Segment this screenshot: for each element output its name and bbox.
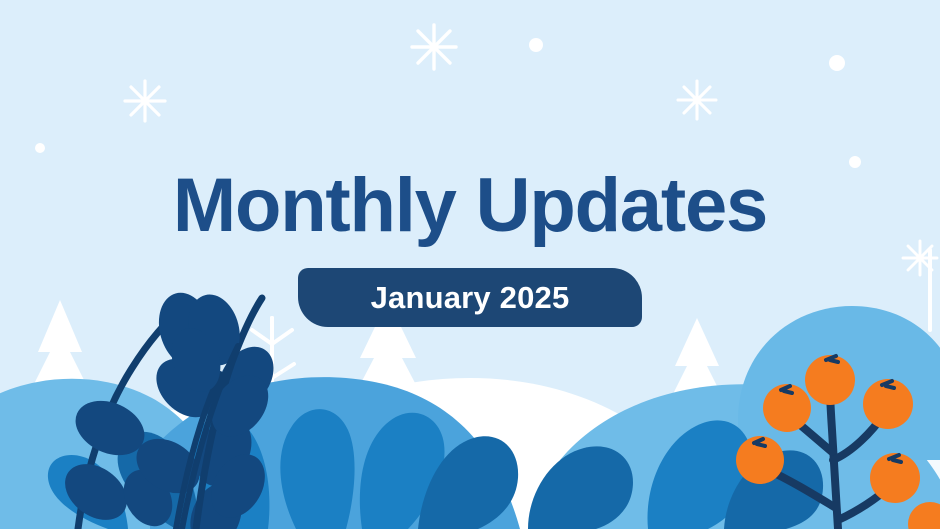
snow-dot-top-center — [529, 38, 543, 52]
berry-lower-left — [736, 436, 784, 484]
berry-upper-left — [763, 384, 811, 432]
presentation-slide: Monthly Updates January 2025 — [0, 0, 940, 529]
berry-right — [863, 379, 913, 429]
snowflake-top-right — [678, 81, 716, 119]
subtitle-label: January 2025 — [371, 282, 570, 313]
berry-upper-center — [805, 355, 855, 405]
berry-lower-right — [870, 453, 920, 503]
snow-dot-top-right — [829, 55, 845, 71]
snowflake-top-left — [125, 81, 165, 121]
winter-illustration-artwork — [0, 0, 940, 529]
snowflake-top-center — [412, 25, 456, 69]
subtitle-badge[interactable]: January 2025 — [298, 268, 642, 327]
snow-dot-left — [35, 143, 45, 153]
snow-dot-right — [849, 156, 861, 168]
